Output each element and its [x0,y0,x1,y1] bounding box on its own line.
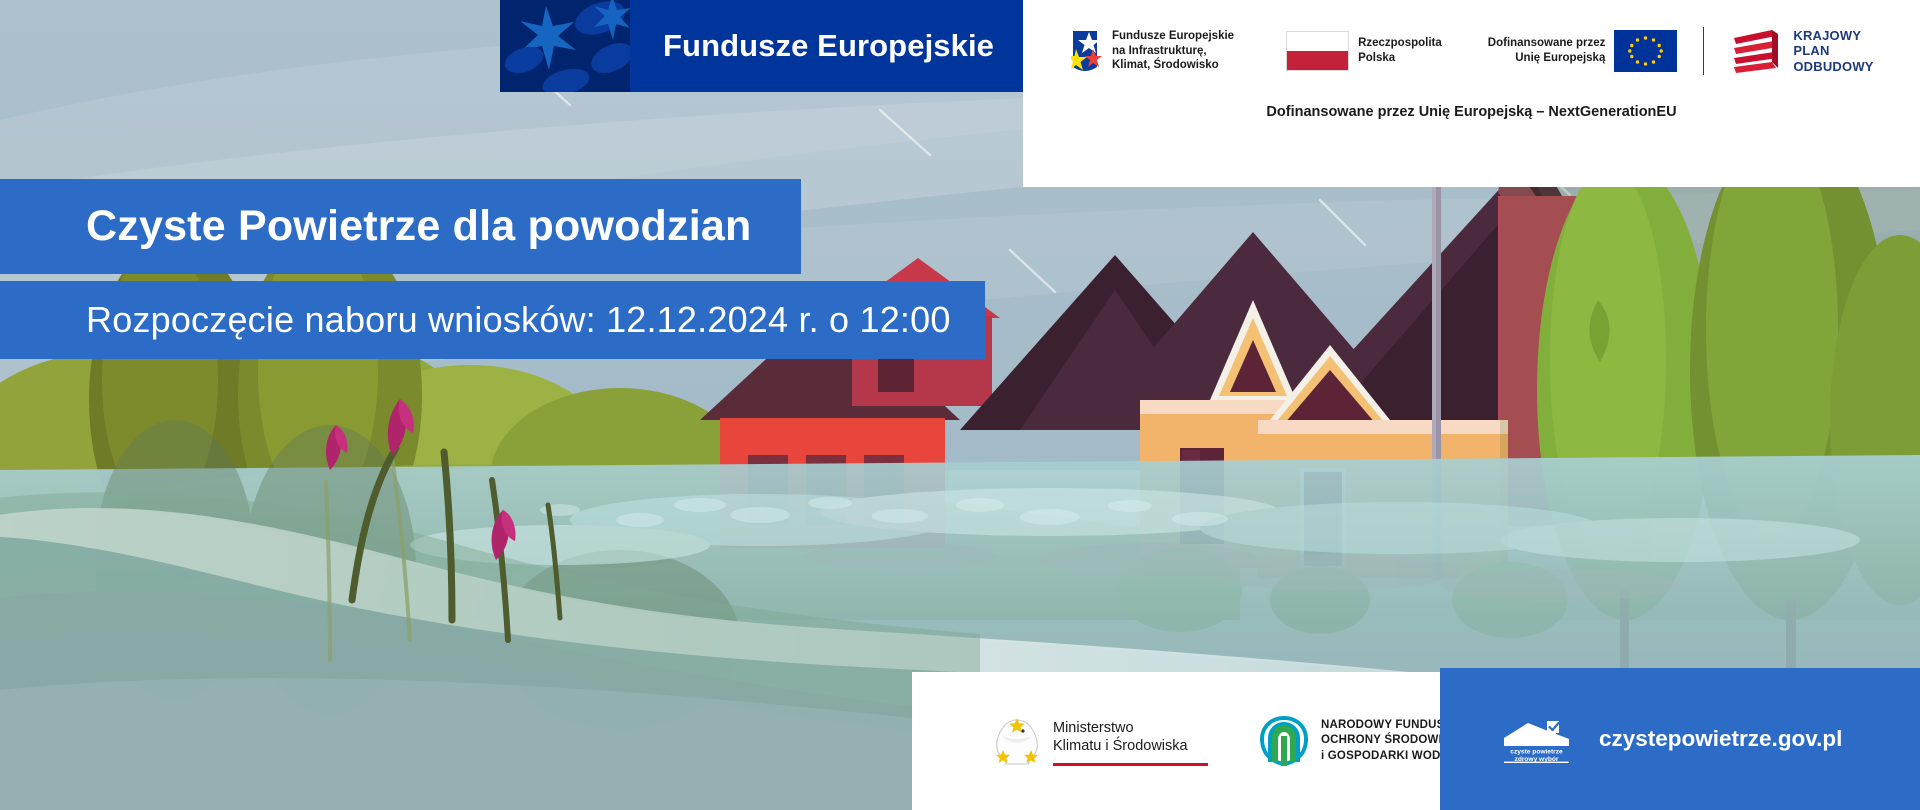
logo-eu-text: Dofinansowane przez Unię Europejską [1488,36,1606,65]
funding-note: Dofinansowane przez Unię Europejską – Ne… [1023,104,1920,120]
pl-line-2: Polska [1358,51,1442,66]
logo-fundusze-europejskie: Fundusze Europejskie na Infrastrukturę, … [1071,27,1234,75]
logo-ministerstwo-klimatu: Ministerstwo Klimatu i Środowiska [990,714,1208,768]
krajowy-plan-odbudowy-icon [1730,28,1782,74]
ministry-red-rule [1053,763,1208,766]
logo-eu-cofunding: Dofinansowane przez Unię Europejską [1488,30,1678,72]
banner-root: Fundusze Europejskie Fundusze Europejski… [0,0,1920,810]
logo-row: Fundusze Europejskie na Infrastrukturę, … [1023,16,1920,86]
pl-line-1: Rzeczpospolita [1358,36,1442,51]
ministry-text-block: Ministerstwo Klimatu i Środowiska [1053,714,1208,766]
czyste-powietrze-house-icon: czyste powietrze zdrowy wybór [1502,716,1571,763]
eu-logo-panel: Fundusze Europejskie na Infrastrukturę, … [1023,0,1920,187]
headline-subtitle-bar: Rozpoczęcie naboru wniosków: 12.12.2024 … [0,281,985,359]
kpo-line-1: KRAJOWY [1793,28,1873,43]
fundusze-europejskie-brand-bar: Fundusze Europejskie [500,0,1023,92]
headline-title-bar: Czyste Powietrze dla powodzian [0,179,801,274]
footer-program-panel: czyste powietrze zdrowy wybór czystepowi… [1440,668,1920,810]
nfosigw-tree-icon [1258,714,1310,768]
ministry-line-1: Ministerstwo [1053,720,1208,738]
footer-institutions-panel: Ministerstwo Klimatu i Środowiska NARODO… [912,672,1440,810]
eu-line-1: Dofinansowane przez [1488,36,1606,51]
kpo-line-3: ODBUDOWY [1793,59,1873,74]
star-pattern-icon [500,0,630,92]
ministry-line-2: Klimatu i Środowiska [1053,738,1208,756]
poland-flag-icon [1286,31,1349,71]
logo-nfosigw: NARODOWY FUNDUSZ OCHRONY ŚRODOWISKA i GO… [1258,714,1467,768]
brand-bar-title: Fundusze Europejskie [663,28,994,64]
logo-fundusze-text: Fundusze Europejskie na Infrastrukturę, … [1112,29,1234,73]
logo-rzeczpospolita-polska: Rzeczpospolita Polska [1286,31,1442,71]
svg-text:czyste powietrze: czyste powietrze [1510,748,1563,755]
logo-kpo-text: KRAJOWY PLAN ODBUDOWY [1793,28,1873,74]
program-url[interactable]: czystepowietrze.gov.pl [1599,726,1842,752]
polish-eagle-icon [990,714,1044,768]
fe-line-3: Klimat, Środowisko [1112,58,1234,73]
eu-line-2: Unię Europejską [1488,51,1606,66]
logo-krajowy-plan-odbudowy: KRAJOWY PLAN ODBUDOWY [1730,28,1873,74]
fundusze-europejskie-star-icon [1071,27,1103,75]
logo-polska-text: Rzeczpospolita Polska [1358,36,1442,65]
fe-line-2: na Infrastrukturę, [1112,44,1234,59]
headline-subtitle: Rozpoczęcie naboru wniosków: 12.12.2024 … [86,299,951,341]
kpo-line-2: PLAN [1793,43,1873,58]
headline-title: Czyste Powietrze dla powodzian [86,202,751,251]
eu-flag-icon [1614,30,1677,72]
logo-divider [1703,27,1704,75]
fe-line-1: Fundusze Europejskie [1112,29,1234,44]
